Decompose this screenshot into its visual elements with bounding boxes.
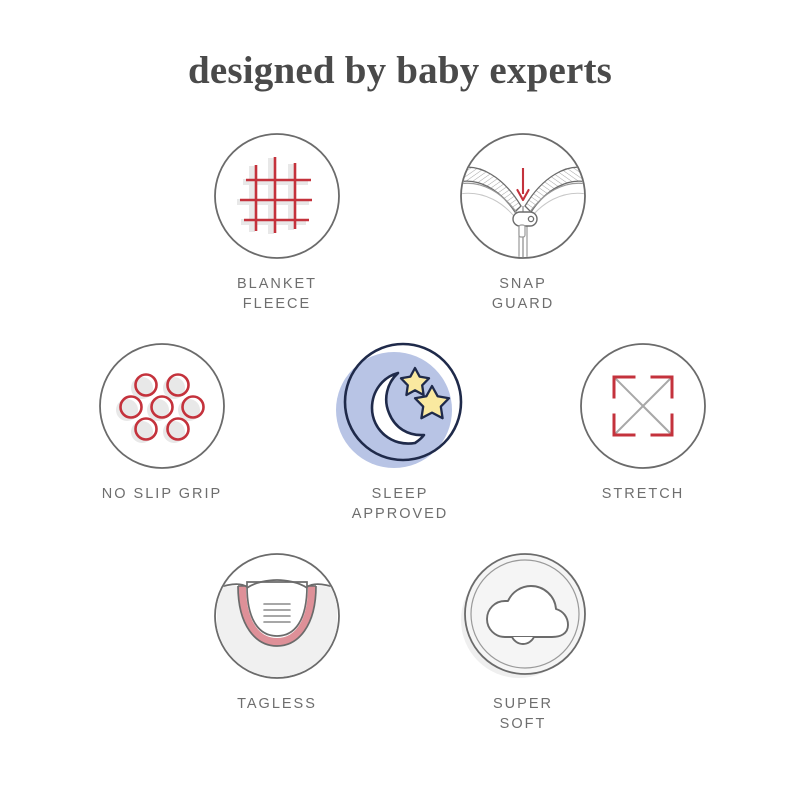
feature-no-slip-grip: NO SLIP GRIP — [82, 342, 242, 504]
feature-stretch: STRETCH — [563, 342, 723, 504]
cloud-icon — [459, 552, 587, 680]
feature-label: BLANKET FLEECE — [197, 274, 357, 314]
feature-super-soft: SUPER SOFT — [443, 552, 603, 734]
feature-snap-guard: SNAP GUARD — [443, 132, 603, 314]
feature-label: SUPER SOFT — [443, 694, 603, 734]
grip-dots-icon — [98, 342, 226, 470]
feature-blanket-fleece: BLANKET FLEECE — [197, 132, 357, 314]
feature-tagless: TAGLESS — [197, 552, 357, 714]
moon-stars-icon — [336, 342, 464, 470]
feature-sleep-approved: SLEEP APPROVED — [320, 342, 480, 524]
shirt-collar-icon — [213, 552, 341, 680]
infographic-page: designed by baby experts — [0, 0, 800, 800]
woven-crosshatch-icon — [213, 132, 341, 260]
feature-label: STRETCH — [563, 484, 723, 504]
feature-label: NO SLIP GRIP — [82, 484, 242, 504]
page-title: designed by baby experts — [0, 48, 800, 93]
feature-label: SLEEP APPROVED — [320, 484, 480, 524]
feature-label: TAGLESS — [197, 694, 357, 714]
expand-arrows-icon — [579, 342, 707, 470]
feature-label: SNAP GUARD — [443, 274, 603, 314]
zipper-snap-guard-icon — [459, 132, 587, 260]
